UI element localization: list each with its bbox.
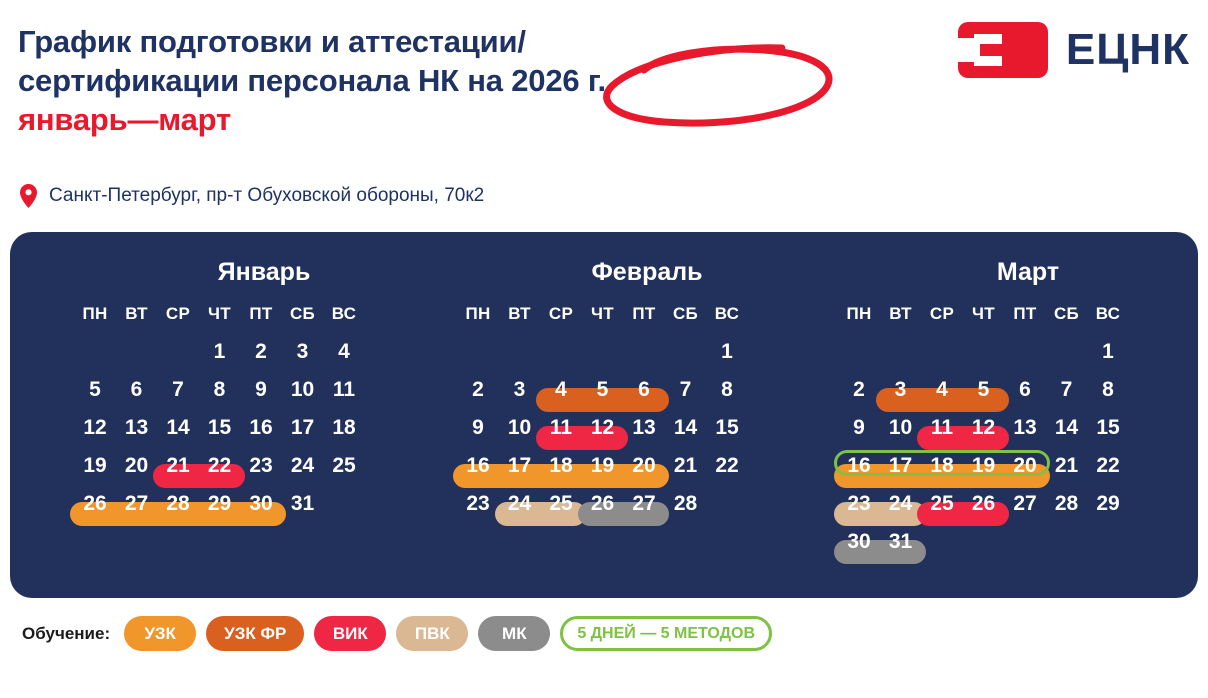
legend-chip-mk[interactable]: МК	[478, 616, 550, 651]
month-title: Январь	[74, 258, 454, 287]
day-cell[interactable]: 27	[116, 492, 158, 516]
day-cell[interactable]: 31	[880, 530, 922, 554]
weekday-header: СР	[157, 304, 199, 324]
day-cell[interactable]: 3	[499, 378, 541, 402]
day-cell[interactable]: 29	[1087, 492, 1129, 516]
day-cell[interactable]: 10	[282, 378, 324, 402]
month-title: Февраль	[457, 258, 837, 287]
day-cell[interactable]: 2	[838, 378, 880, 402]
day-cell[interactable]: 30	[240, 492, 282, 516]
day-cell[interactable]: 3	[282, 340, 324, 364]
month-3: МартПНВТСРЧТПТСБВС1234567891011121314151…	[838, 232, 1208, 598]
day-cell[interactable]: 6	[1004, 378, 1046, 402]
ecnk-logo-mark-icon	[958, 22, 1048, 78]
day-cell[interactable]: 21	[1046, 454, 1088, 478]
day-cell[interactable]: 13	[116, 416, 158, 440]
day-cell[interactable]: 25	[921, 492, 963, 516]
legend-chip-pvk[interactable]: ПВК	[396, 616, 468, 651]
day-cell[interactable]: 16	[457, 454, 499, 478]
day-cell[interactable]: 11	[323, 378, 365, 402]
logo-text: ЕЦНК	[1066, 28, 1190, 72]
weekday-header: ВТ	[880, 304, 922, 324]
map-pin-icon	[20, 184, 37, 208]
weekday-header: ЧТ	[199, 304, 241, 324]
logo[interactable]: ЕЦНК	[958, 22, 1190, 78]
weekday-header: ВС	[1087, 304, 1129, 324]
weekday-header: ПН	[838, 304, 880, 324]
day-cell[interactable]: 18	[323, 416, 365, 440]
day-cell[interactable]: 23	[240, 454, 282, 478]
calendar-panel: ЯнварьПНВТСРЧТПТСБВС12345678910111213141…	[10, 232, 1198, 598]
day-cell[interactable]: 9	[838, 416, 880, 440]
day-cell[interactable]: 5	[582, 378, 624, 402]
day-cell[interactable]: 18	[921, 454, 963, 478]
day-cell[interactable]: 4	[323, 340, 365, 364]
day-cell[interactable]: 1	[706, 340, 748, 364]
month-1: ЯнварьПНВТСРЧТПТСБВС12345678910111213141…	[74, 232, 454, 598]
day-cell[interactable]: 18	[540, 454, 582, 478]
title-subtitle: январь—март	[18, 100, 878, 139]
day-cell[interactable]: 28	[1046, 492, 1088, 516]
day-cell[interactable]: 22	[199, 454, 241, 478]
day-cell[interactable]: 2	[457, 378, 499, 402]
legend-chip-vik[interactable]: ВИК	[314, 616, 386, 651]
day-cell[interactable]: 7	[665, 378, 707, 402]
day-cell[interactable]: 6	[116, 378, 158, 402]
legend-chip-five_days[interactable]: 5 ДНЕЙ — 5 МЕТОДОВ	[560, 616, 772, 651]
title-line-1: График подготовки и аттестации/	[18, 22, 878, 61]
day-cell[interactable]: 4	[921, 378, 963, 402]
day-cell[interactable]: 16	[838, 454, 880, 478]
day-cell[interactable]: 20	[623, 454, 665, 478]
weekday-header: ЧТ	[582, 304, 624, 324]
day-cell[interactable]: 13	[1004, 416, 1046, 440]
day-cell[interactable]: 23	[457, 492, 499, 516]
day-cell[interactable]: 15	[1087, 416, 1129, 440]
day-cell[interactable]: 28	[665, 492, 707, 516]
day-cell[interactable]: 24	[499, 492, 541, 516]
day-cell[interactable]: 25	[323, 454, 365, 478]
day-cell[interactable]: 12	[582, 416, 624, 440]
weekday-header: СБ	[1046, 304, 1088, 324]
legend-chip-uzk_fr[interactable]: УЗК ФР	[206, 616, 304, 651]
weekday-header: ПТ	[1004, 304, 1046, 324]
day-cell[interactable]: 19	[963, 454, 1005, 478]
day-cell[interactable]: 31	[282, 492, 324, 516]
poster-root: График подготовки и аттестации/ сертифик…	[0, 0, 1208, 698]
day-cell[interactable]: 12	[963, 416, 1005, 440]
day-cell[interactable]: 15	[199, 416, 241, 440]
day-cell[interactable]: 15	[706, 416, 748, 440]
title-line-2: сертификации персонала НК на 2026 г.	[18, 61, 878, 100]
day-cell[interactable]: 1	[199, 340, 241, 364]
day-cell[interactable]: 14	[665, 416, 707, 440]
day-cell[interactable]: 11	[921, 416, 963, 440]
address-text: Санкт-Петербург, пр-т Обуховской обороны…	[49, 185, 484, 207]
legend-chips: УЗКУЗК ФРВИКПВКМК5 ДНЕЙ — 5 МЕТОДОВ	[124, 616, 772, 651]
month-2: ФевральПНВТСРЧТПТСБВС1234567891011121314…	[457, 232, 837, 598]
day-cell[interactable]: 22	[1087, 454, 1129, 478]
day-cell[interactable]: 26	[74, 492, 116, 516]
weekday-header: ВТ	[116, 304, 158, 324]
day-cell[interactable]: 2	[240, 340, 282, 364]
header: График подготовки и аттестации/ сертифик…	[0, 0, 1208, 232]
day-cell[interactable]: 8	[199, 378, 241, 402]
legend-chip-uzk[interactable]: УЗК	[124, 616, 196, 651]
weekday-header: ПН	[74, 304, 116, 324]
address-row: Санкт-Петербург, пр-т Обуховской обороны…	[20, 184, 484, 208]
day-cell[interactable]: 17	[880, 454, 922, 478]
day-cell[interactable]: 23	[838, 492, 880, 516]
day-cell[interactable]: 13	[623, 416, 665, 440]
day-cell[interactable]: 7	[1046, 378, 1088, 402]
day-cell[interactable]: 10	[880, 416, 922, 440]
day-cell[interactable]: 24	[880, 492, 922, 516]
day-cell[interactable]: 19	[74, 454, 116, 478]
day-cell[interactable]: 17	[499, 454, 541, 478]
day-cell[interactable]: 7	[157, 378, 199, 402]
weekday-header: СБ	[665, 304, 707, 324]
day-cell[interactable]: 8	[1087, 378, 1129, 402]
weekday-header: ВТ	[499, 304, 541, 324]
weekday-header: ПТ	[623, 304, 665, 324]
day-cell[interactable]: 8	[706, 378, 748, 402]
day-cell[interactable]: 22	[706, 454, 748, 478]
day-cell[interactable]: 10	[499, 416, 541, 440]
day-cell[interactable]: 20	[116, 454, 158, 478]
day-cell[interactable]: 11	[540, 416, 582, 440]
day-cell[interactable]: 17	[282, 416, 324, 440]
day-cell[interactable]: 29	[199, 492, 241, 516]
day-cell[interactable]: 20	[1004, 454, 1046, 478]
day-cell[interactable]: 16	[240, 416, 282, 440]
day-cell[interactable]: 12	[74, 416, 116, 440]
day-cell[interactable]: 27	[623, 492, 665, 516]
day-cell[interactable]: 26	[582, 492, 624, 516]
day-cell[interactable]: 24	[282, 454, 324, 478]
weekday-header: СР	[540, 304, 582, 324]
day-cell[interactable]: 1	[1087, 340, 1129, 364]
day-cell[interactable]: 9	[457, 416, 499, 440]
weekday-header: ПТ	[240, 304, 282, 324]
day-cell[interactable]: 14	[157, 416, 199, 440]
day-cell[interactable]: 26	[963, 492, 1005, 516]
day-cell[interactable]: 21	[665, 454, 707, 478]
weekday-header: ВС	[323, 304, 365, 324]
legend: Обучение: УЗКУЗК ФРВИКПВКМК5 ДНЕЙ — 5 МЕ…	[22, 616, 772, 651]
weekday-header: ПН	[457, 304, 499, 324]
day-cell[interactable]: 30	[838, 530, 880, 554]
day-cell[interactable]: 4	[540, 378, 582, 402]
day-cell[interactable]: 25	[540, 492, 582, 516]
weekday-header: ЧТ	[963, 304, 1005, 324]
month-grid: ПНВТСРЧТПТСБВС12345678910111213141516171…	[457, 304, 837, 594]
legend-label: Обучение:	[22, 624, 110, 644]
month-grid: ПНВТСРЧТПТСБВС12345678910111213141516171…	[838, 304, 1208, 594]
day-cell[interactable]: 5	[74, 378, 116, 402]
day-cell[interactable]: 21	[157, 454, 199, 478]
day-cell[interactable]: 14	[1046, 416, 1088, 440]
day-cell[interactable]: 28	[157, 492, 199, 516]
weekday-header: СР	[921, 304, 963, 324]
weekday-header: СБ	[282, 304, 324, 324]
month-grid: ПНВТСРЧТПТСБВС12345678910111213141516171…	[74, 304, 454, 594]
page-title: График подготовки и аттестации/ сертифик…	[18, 22, 878, 139]
day-cell[interactable]: 5	[963, 378, 1005, 402]
day-cell[interactable]: 6	[623, 378, 665, 402]
month-title: Март	[838, 258, 1208, 287]
day-cell[interactable]: 19	[582, 454, 624, 478]
day-cell[interactable]: 3	[880, 378, 922, 402]
day-cell[interactable]: 27	[1004, 492, 1046, 516]
day-cell[interactable]: 9	[240, 378, 282, 402]
months-container: ЯнварьПНВТСРЧТПТСБВС12345678910111213141…	[10, 232, 1198, 598]
weekday-header: ВС	[706, 304, 748, 324]
